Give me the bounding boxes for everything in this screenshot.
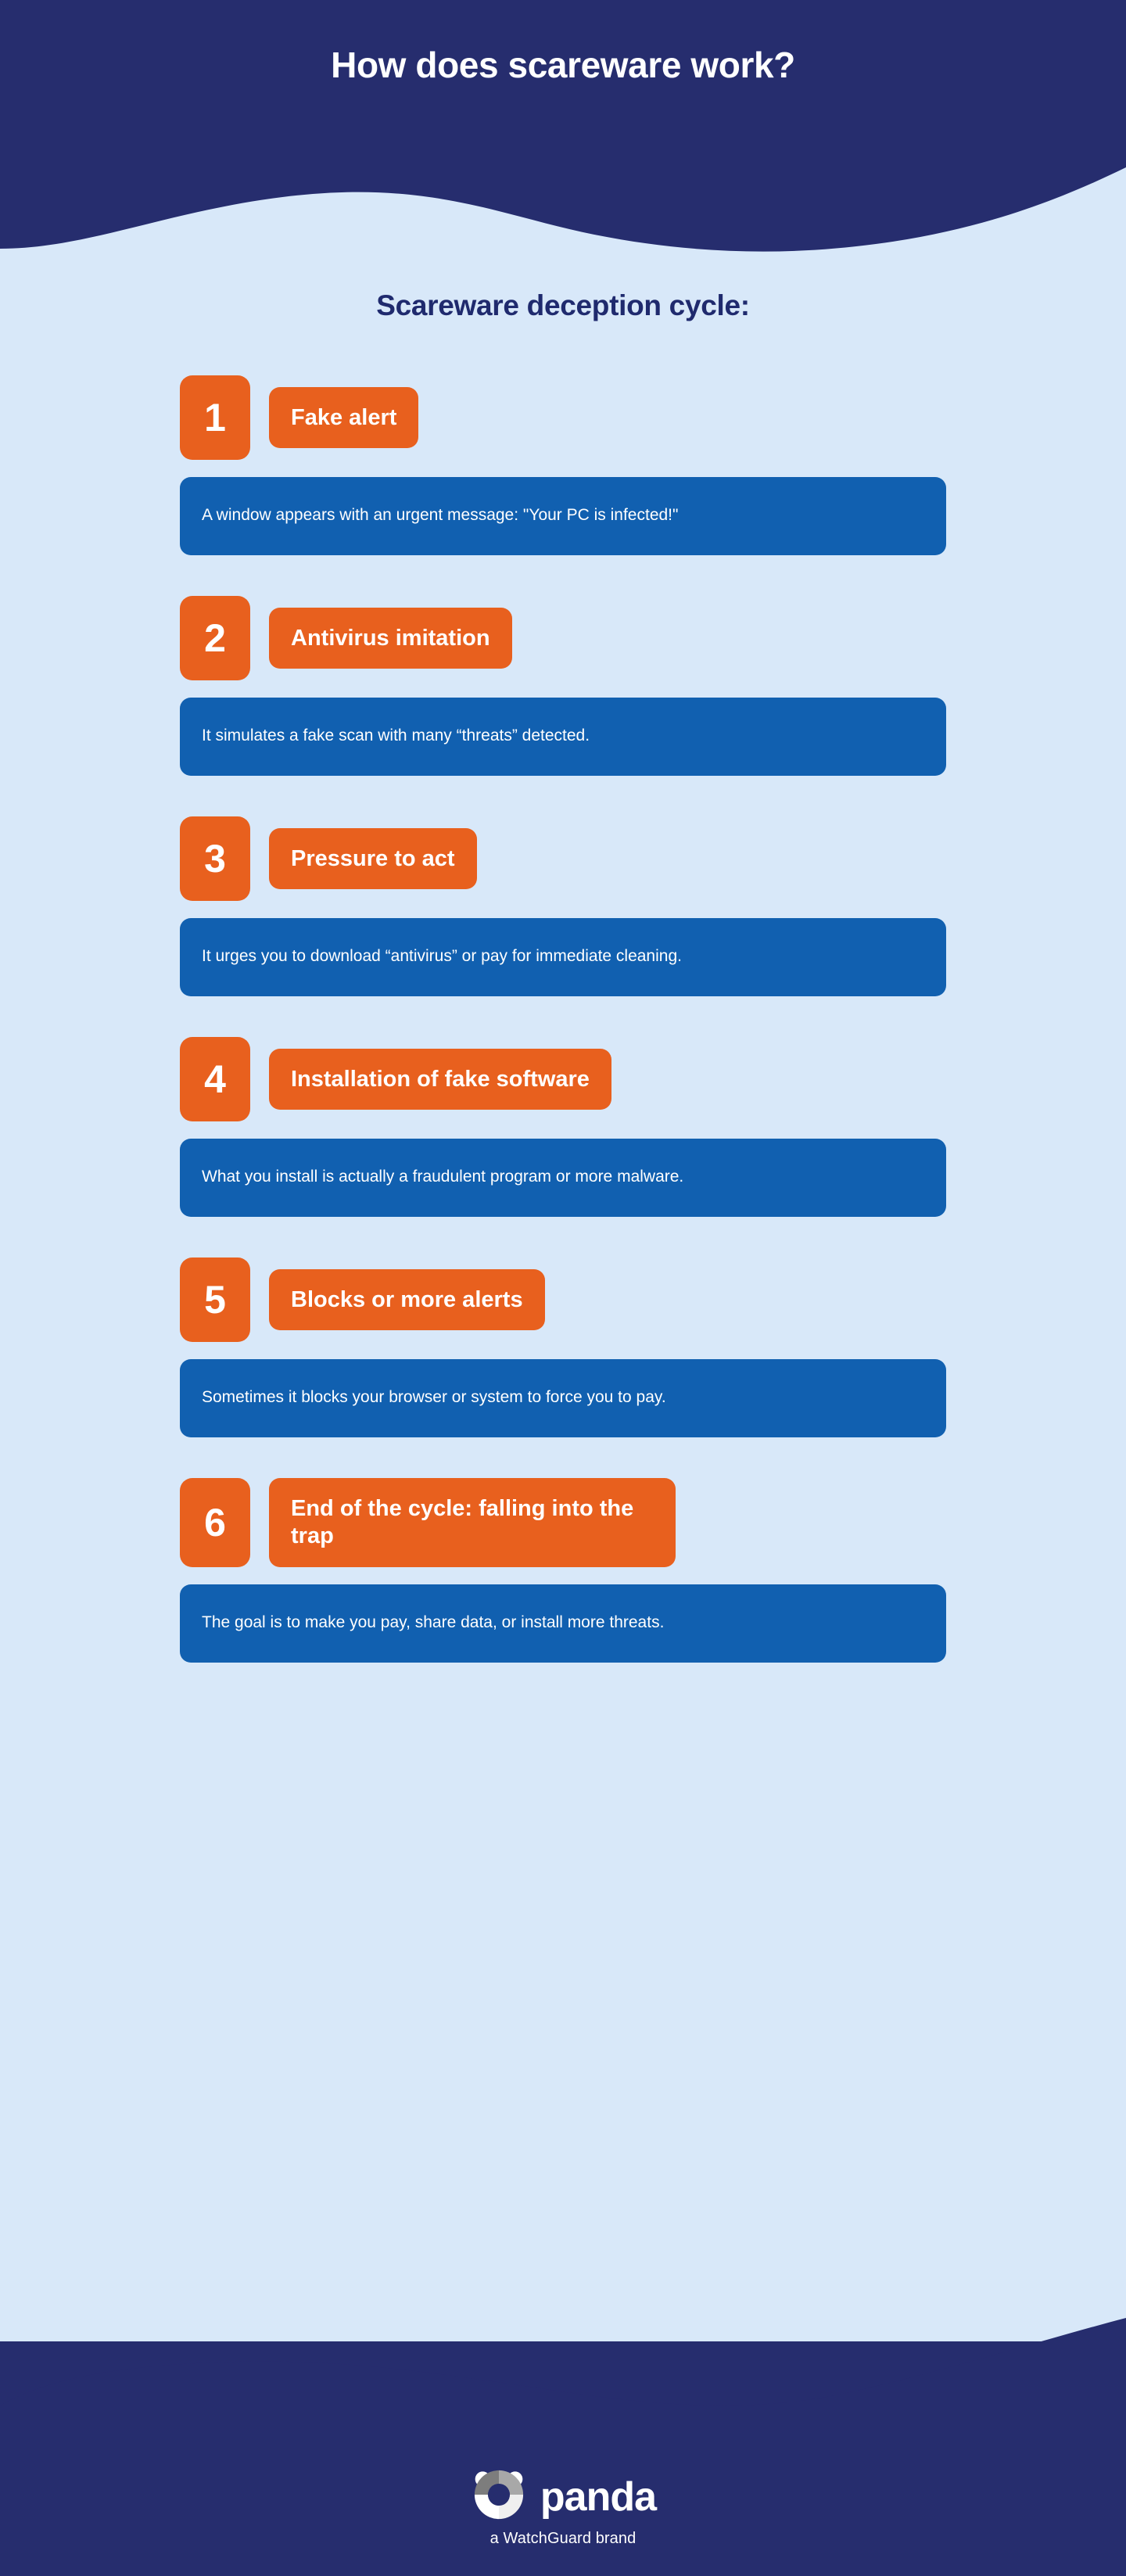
step-number-badge: 5 xyxy=(180,1258,250,1342)
step-label-pill: Installation of fake software xyxy=(269,1049,611,1110)
step-item: 2 Antivirus imitation It simulates a fak… xyxy=(180,596,946,776)
step-number-badge: 1 xyxy=(180,375,250,460)
step-number-badge: 4 xyxy=(180,1037,250,1121)
step-header: 3 Pressure to act xyxy=(180,816,946,901)
step-description-card: It simulates a fake scan with many “thre… xyxy=(180,698,946,776)
bottom-wave-divider xyxy=(0,2318,1126,2420)
step-label-pill: End of the cycle: falling into the trap xyxy=(269,1478,676,1567)
step-label-pill: Pressure to act xyxy=(269,828,477,890)
step-number-badge: 6 xyxy=(180,1478,250,1567)
step-label-pill: Antivirus imitation xyxy=(269,608,512,669)
step-item: 1 Fake alert A window appears with an ur… xyxy=(180,375,946,555)
footer: panda a WatchGuard brand xyxy=(0,2466,1126,2548)
step-description-card: Sometimes it blocks your browser or syst… xyxy=(180,1359,946,1437)
step-header: 4 Installation of fake software xyxy=(180,1037,946,1121)
brand-logo: panda xyxy=(470,2466,656,2524)
step-header: 6 End of the cycle: falling into the tra… xyxy=(180,1478,946,1567)
brand-wordmark: panda xyxy=(540,2477,656,2517)
steps-list: 1 Fake alert A window appears with an ur… xyxy=(180,375,946,1663)
step-header: 1 Fake alert xyxy=(180,375,946,460)
step-description-card: What you install is actually a fraudulen… xyxy=(180,1139,946,1217)
step-header: 2 Antivirus imitation xyxy=(180,596,946,680)
page-title: How does scareware work? xyxy=(0,44,1126,86)
brand-tagline: a WatchGuard brand xyxy=(490,2530,637,2548)
step-description-card: The goal is to make you pay, share data,… xyxy=(180,1584,946,1663)
step-number-badge: 3 xyxy=(180,816,250,901)
section-subtitle: Scareware deception cycle: xyxy=(0,289,1126,322)
infographic-root: How does scareware work? Scareware decep… xyxy=(0,0,1126,2576)
step-item: 4 Installation of fake software What you… xyxy=(180,1037,946,1217)
top-wave-divider xyxy=(0,156,1126,266)
step-header: 5 Blocks or more alerts xyxy=(180,1258,946,1342)
step-item: 6 End of the cycle: falling into the tra… xyxy=(180,1478,946,1663)
step-description-card: It urges you to download “antivirus” or … xyxy=(180,918,946,996)
header-band xyxy=(0,0,1126,266)
step-label-pill: Fake alert xyxy=(269,387,418,449)
step-number-badge: 2 xyxy=(180,596,250,680)
step-item: 3 Pressure to act It urges you to downlo… xyxy=(180,816,946,996)
panda-logo-icon xyxy=(470,2466,528,2524)
step-label-pill: Blocks or more alerts xyxy=(269,1269,545,1331)
step-description-card: A window appears with an urgent message:… xyxy=(180,477,946,555)
step-item: 5 Blocks or more alerts Sometimes it blo… xyxy=(180,1258,946,1437)
